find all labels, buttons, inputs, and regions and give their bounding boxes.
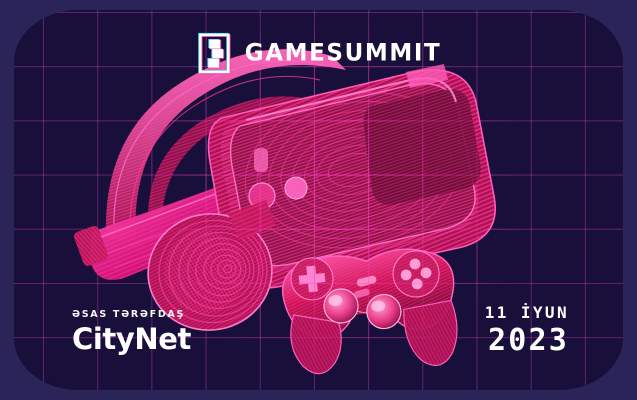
- gamesummit-logo-icon: [196, 32, 232, 74]
- gamepad: [279, 243, 462, 380]
- event-promo-banner: GAMESUMMIT ƏSAS TƏRƏFDAŞ CityNet 11 İYUN…: [0, 0, 637, 400]
- crt-screen: GAMESUMMIT ƏSAS TƏRƏFDAŞ CityNet 11 İYUN…: [14, 10, 623, 390]
- brand-logo: GAMESUMMIT: [196, 32, 442, 74]
- partner-block: ƏSAS TƏRƏFDAŞ CityNet: [72, 309, 191, 354]
- logo-wordmark: GAMESUMMIT: [245, 41, 442, 65]
- partner-kicker: ƏSAS TƏRƏFDAŞ: [72, 309, 191, 320]
- event-date-day: 11 İYUN: [485, 305, 569, 321]
- event-date-year: 2023: [485, 326, 569, 356]
- event-date-block: 11 İYUN 2023: [485, 305, 569, 356]
- partner-name: CityNet: [72, 325, 191, 354]
